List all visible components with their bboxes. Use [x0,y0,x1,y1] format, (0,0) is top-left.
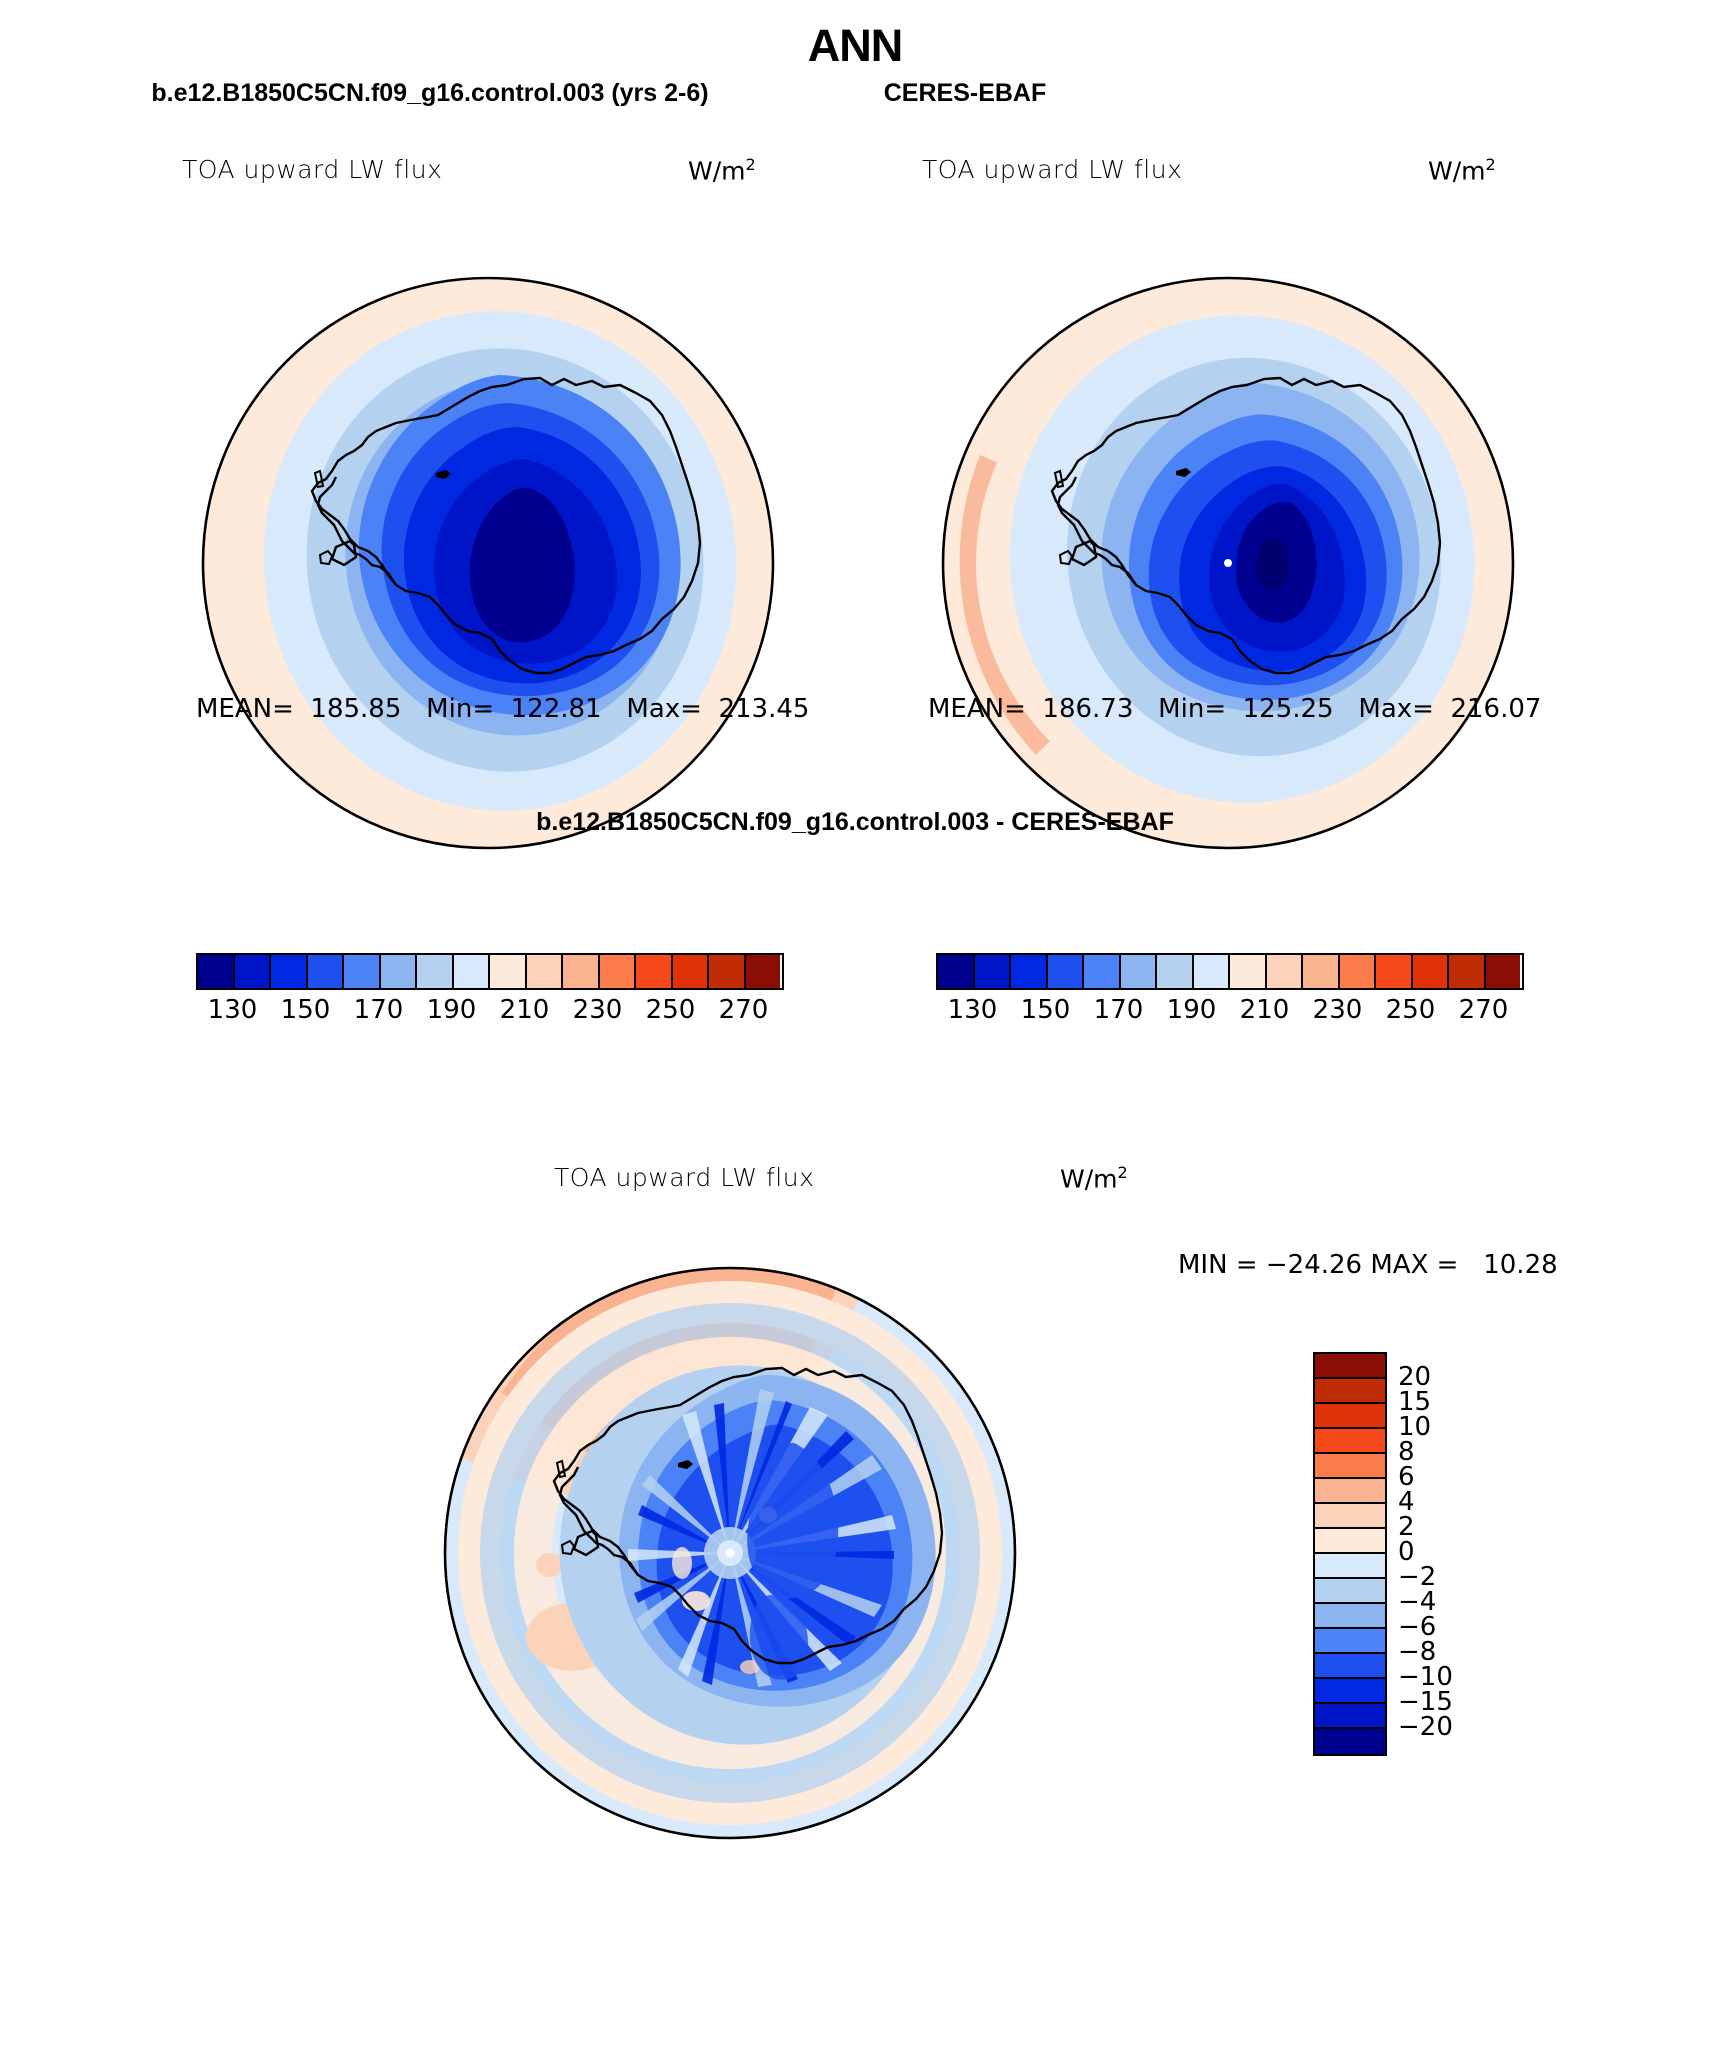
vcb-tick: −20 [1398,1712,1453,1742]
cb-tick: 270 [1459,995,1509,1025]
colorbar-model[interactable] [196,953,784,990]
variable-label-model: TOA upward LW flux [182,155,442,184]
panel-header-obs: CERES-EBAF [790,79,1140,108]
units-label-obs: W/m2 [1428,155,1496,185]
colorbar-difference[interactable] [1313,1352,1387,1756]
stats-difference: MIN = −24.26 MAX = 10.28 [1178,1250,1558,1280]
units-label-difference: W/m2 [1060,1163,1128,1193]
panel-header-model: b.e12.B1850C5CN.f09_g16.control.003 (yrs… [100,79,760,108]
cb-tick: 250 [1386,995,1436,1025]
cb-tick: 250 [646,995,696,1025]
units-text-obs: W/m [1428,156,1486,185]
map-model[interactable] [200,275,776,851]
cb-tick: 190 [1167,995,1217,1025]
stats-model: MEAN= 185.85 Min= 122.81 Max= 213.45 [196,694,809,724]
colorbar-difference-labels: 20 15 10 8 6 4 2 0 −2 −4 −6 −8 −10 −15 −… [1398,1352,1518,1752]
units-exponent-model: 2 [746,155,756,174]
cb-tick: 130 [208,995,258,1025]
map-obs[interactable] [940,275,1516,851]
cb-tick: 230 [1313,995,1363,1025]
colorbar-obs[interactable] [936,953,1524,990]
cb-tick: 150 [1021,995,1071,1025]
map-difference[interactable] [442,1265,1018,1841]
cb-tick: 150 [281,995,331,1025]
cb-tick: 270 [719,995,769,1025]
panel-header-difference: b.e12.B1850C5CN.f09_g16.control.003 - CE… [0,808,1710,837]
cb-tick: 190 [427,995,477,1025]
cb-tick: 170 [1094,995,1144,1025]
stats-obs: MEAN= 186.73 Min= 125.25 Max= 216.07 [928,694,1541,724]
units-text-difference: W/m [1060,1164,1118,1193]
variable-label-obs: TOA upward LW flux [922,155,1182,184]
cb-tick: 210 [1240,995,1290,1025]
cb-tick: 130 [948,995,998,1025]
units-label-model: W/m2 [688,155,756,185]
cb-tick: 210 [500,995,550,1025]
variable-label-difference: TOA upward LW flux [554,1163,814,1192]
cb-tick: 230 [573,995,623,1025]
season-title: ANN [0,20,1710,72]
units-exponent-obs: 2 [1486,155,1496,174]
units-text-model: W/m [688,156,746,185]
cb-tick: 170 [354,995,404,1025]
units-exponent-difference: 2 [1118,1163,1128,1182]
